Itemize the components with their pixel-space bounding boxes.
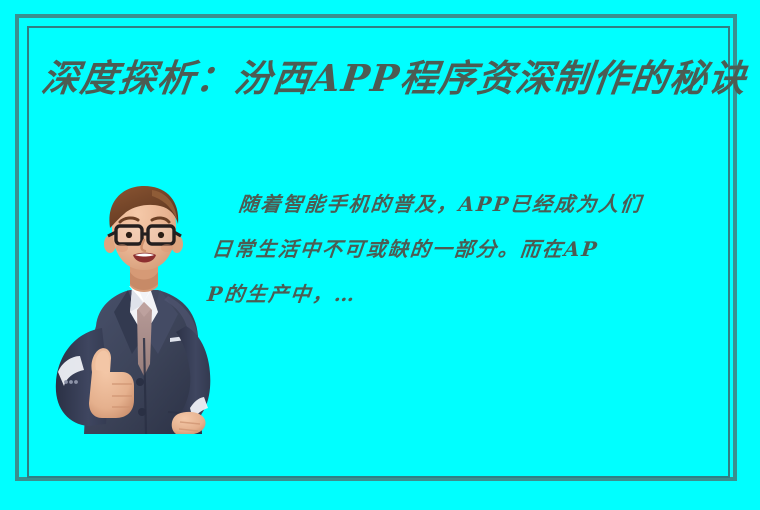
banner-title: 深度探析：汾西APP程序资深制作的秘诀 <box>39 56 760 100</box>
jacket-button-top <box>136 378 144 386</box>
head <box>104 186 183 270</box>
jacket-button-bottom <box>138 408 146 416</box>
banner-canvas: 深度探析：汾西APP程序资深制作的秘诀 随着智能手机的普及，APP已经成为人们 … <box>0 0 760 510</box>
body-line-3: P的生产中，… <box>205 272 730 317</box>
banner-body-text: 随着智能手机的普及，APP已经成为人们 日常生活中不可或缺的一部分。而在AP P… <box>205 182 739 317</box>
body-line-1: 随着智能手机的普及，APP已经成为人们 <box>214 182 739 227</box>
body-line-2: 日常生活中不可或缺的一部分。而在AP <box>210 227 735 272</box>
businessman-thumbs-up-illustration <box>40 186 220 434</box>
